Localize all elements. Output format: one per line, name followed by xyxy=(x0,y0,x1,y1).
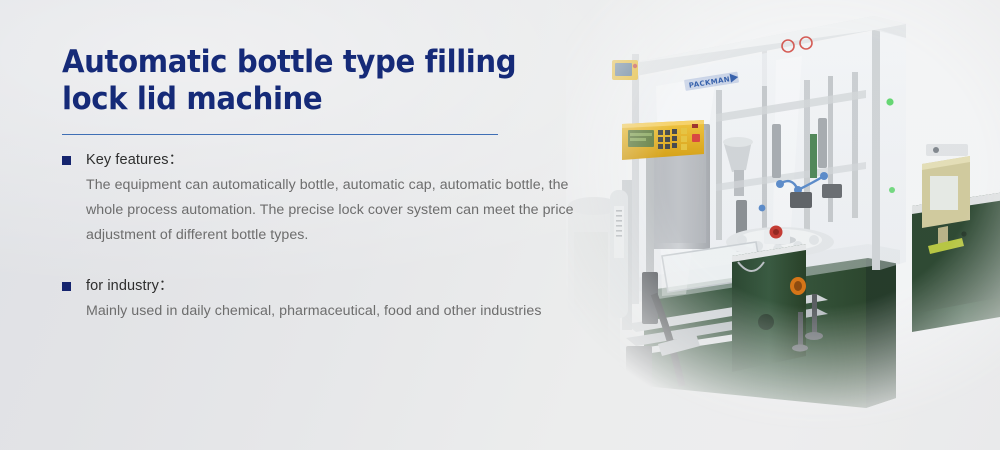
feature-heading: Key features： xyxy=(62,150,602,170)
feature-block-for-industry: for industry： Mainly used in daily chemi… xyxy=(62,276,602,324)
feature-body-text: The equipment can automatically bottle, … xyxy=(62,173,598,248)
square-bullet-icon xyxy=(62,156,71,165)
page-title: Automatic bottle type filling lock lid m… xyxy=(62,44,570,118)
feature-heading-label: for industry： xyxy=(86,278,174,294)
feature-heading-label: Key features： xyxy=(86,152,183,168)
product-banner: Automatic bottle type filling lock lid m… xyxy=(0,0,1000,450)
feature-body-text: Mainly used in daily chemical, pharmaceu… xyxy=(62,299,594,324)
feature-block-key-features: Key features： The equipment can automati… xyxy=(62,150,602,248)
feature-heading: for industry： xyxy=(62,276,602,296)
text-column: Automatic bottle type filling lock lid m… xyxy=(62,44,602,324)
machine-photo: PACKMAN xyxy=(566,0,1000,434)
title-divider xyxy=(62,134,498,135)
square-bullet-icon xyxy=(62,282,71,291)
